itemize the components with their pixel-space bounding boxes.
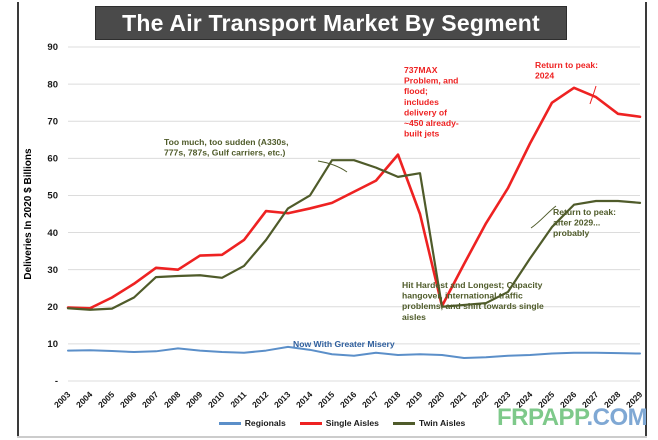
- annotation-line: Now With Greater Misery: [293, 339, 395, 349]
- legend-item-twin-aisles[interactable]: Twin Aisles: [393, 418, 465, 428]
- y-axis-tick-label: 60: [47, 154, 58, 165]
- y-axis-tick-label: 40: [47, 228, 58, 239]
- chart-container: The Air Transport Market By Segment -102…: [0, 0, 658, 440]
- annotation-line: Return to peak:: [535, 60, 598, 70]
- legend-item-regionals[interactable]: Regionals: [219, 418, 286, 428]
- legend-swatch: [219, 422, 241, 425]
- annotation-line: probably: [553, 228, 590, 238]
- annotation-line: aisles: [402, 312, 426, 322]
- y-axis-tick-label: 10: [47, 339, 58, 350]
- y-axis-title: Deliveries In 2020 $ Billions: [23, 148, 34, 280]
- annotation-line: 737MAX: [404, 65, 438, 75]
- annotation-line: ~450 already-: [404, 118, 459, 128]
- x-axis-tick-label: 2015: [316, 389, 337, 410]
- annotations: Too much, too sudden (A330s,777s, 787s, …: [164, 60, 616, 349]
- x-axis-tick-label: 2016: [338, 389, 359, 410]
- annotation-line: includes: [404, 97, 439, 107]
- annotation-line: 2024: [535, 71, 554, 81]
- y-axis-tick-label: 50: [47, 191, 58, 202]
- annotation-leader-line: [318, 161, 347, 172]
- watermark-tld: .COM: [586, 404, 647, 431]
- x-axis-tick-label: 2004: [74, 389, 95, 410]
- annotation-line: Return to peak:: [553, 207, 616, 217]
- x-axis-tick-label: 2012: [250, 389, 271, 410]
- annotation-line: built jets: [404, 129, 440, 139]
- annotation-line: after 2029...: [553, 218, 600, 228]
- annotation-return-to-peak-2024: Return to peak:2024: [535, 60, 598, 81]
- x-axis-tick-label: 2021: [448, 389, 469, 410]
- annotation-line: 777s, 787s, Gulf carriers, etc.): [164, 148, 285, 158]
- annotation-line: Problem, and: [404, 76, 458, 86]
- y-axis-title-label: Deliveries In 2020 $ Billions: [23, 148, 34, 280]
- chart-plot-area: -102030405060708090 Deliveries In 2020 $…: [0, 0, 658, 440]
- x-axis-tick-label: 2018: [382, 389, 403, 410]
- x-axis-tick-label: 2017: [360, 389, 381, 410]
- watermark: FRPAPP.COM: [497, 404, 647, 432]
- annotation-now-with-greater-misery: Now With Greater Misery: [293, 339, 395, 349]
- x-axis-tick-label: 2011: [228, 389, 248, 409]
- annotation-line: delivery of: [404, 107, 447, 117]
- annotation-line: flood;: [404, 86, 428, 96]
- legend-label: Single Aisles: [326, 418, 379, 428]
- y-axis-tick-label: 20: [47, 302, 58, 313]
- watermark-brand: FRPAPP: [497, 404, 586, 431]
- annotation-line: hangover, international traffic: [402, 291, 523, 301]
- legend-label: Regionals: [245, 418, 286, 428]
- legend-swatch: [393, 422, 415, 425]
- x-axis-tick-label: 2008: [162, 389, 183, 410]
- x-axis-tick-label: 2007: [140, 389, 161, 410]
- x-axis-tick-label: 2013: [272, 389, 293, 410]
- y-axis-tick-label: -: [55, 376, 58, 387]
- annotation-too-much-too-sudden: Too much, too sudden (A330s,777s, 787s, …: [164, 137, 288, 158]
- annotation-line: Too much, too sudden (A330s,: [164, 137, 288, 147]
- annotation-hit-hardest-and-longest: Hit Hardest and Longest; Capacityhangove…: [402, 280, 544, 322]
- x-axis-tick-label: 2020: [426, 389, 447, 410]
- annotation-line: problems, and shift towards single: [402, 301, 544, 311]
- y-axis-tick-label: 90: [47, 42, 58, 53]
- legend-item-single-aisles[interactable]: Single Aisles: [300, 418, 379, 428]
- legend-label: Twin Aisles: [419, 418, 465, 428]
- y-axis-tick-label: 80: [47, 79, 58, 90]
- x-axis-tick-label: 2005: [96, 389, 117, 410]
- x-axis-tick-label: 2019: [404, 389, 425, 410]
- annotation-return-to-peak-after-2029: Return to peak:after 2029...probably: [553, 207, 616, 238]
- chart-legend: RegionalsSingle AislesTwin Aisles: [197, 415, 487, 431]
- y-axis-tick-label: 70: [47, 116, 58, 127]
- legend-swatch: [300, 422, 322, 425]
- x-axis-tick-label: 2022: [470, 389, 491, 410]
- annotation-737max-problem: 737MAXProblem, andflood;includesdelivery…: [404, 65, 459, 139]
- x-axis-tick-label: 2009: [184, 389, 205, 410]
- x-axis-tick-label: 2006: [118, 389, 139, 410]
- x-axis-tick-label: 2014: [294, 389, 315, 410]
- y-axis-tick-label: 30: [47, 265, 58, 276]
- x-axis-tick-label: 2003: [52, 389, 73, 410]
- y-axis-tick-labels: -102030405060708090: [47, 42, 58, 387]
- x-axis-tick-label: 2010: [206, 389, 227, 410]
- annotation-leader-lines: [318, 86, 596, 286]
- annotation-line: Hit Hardest and Longest; Capacity: [402, 280, 543, 290]
